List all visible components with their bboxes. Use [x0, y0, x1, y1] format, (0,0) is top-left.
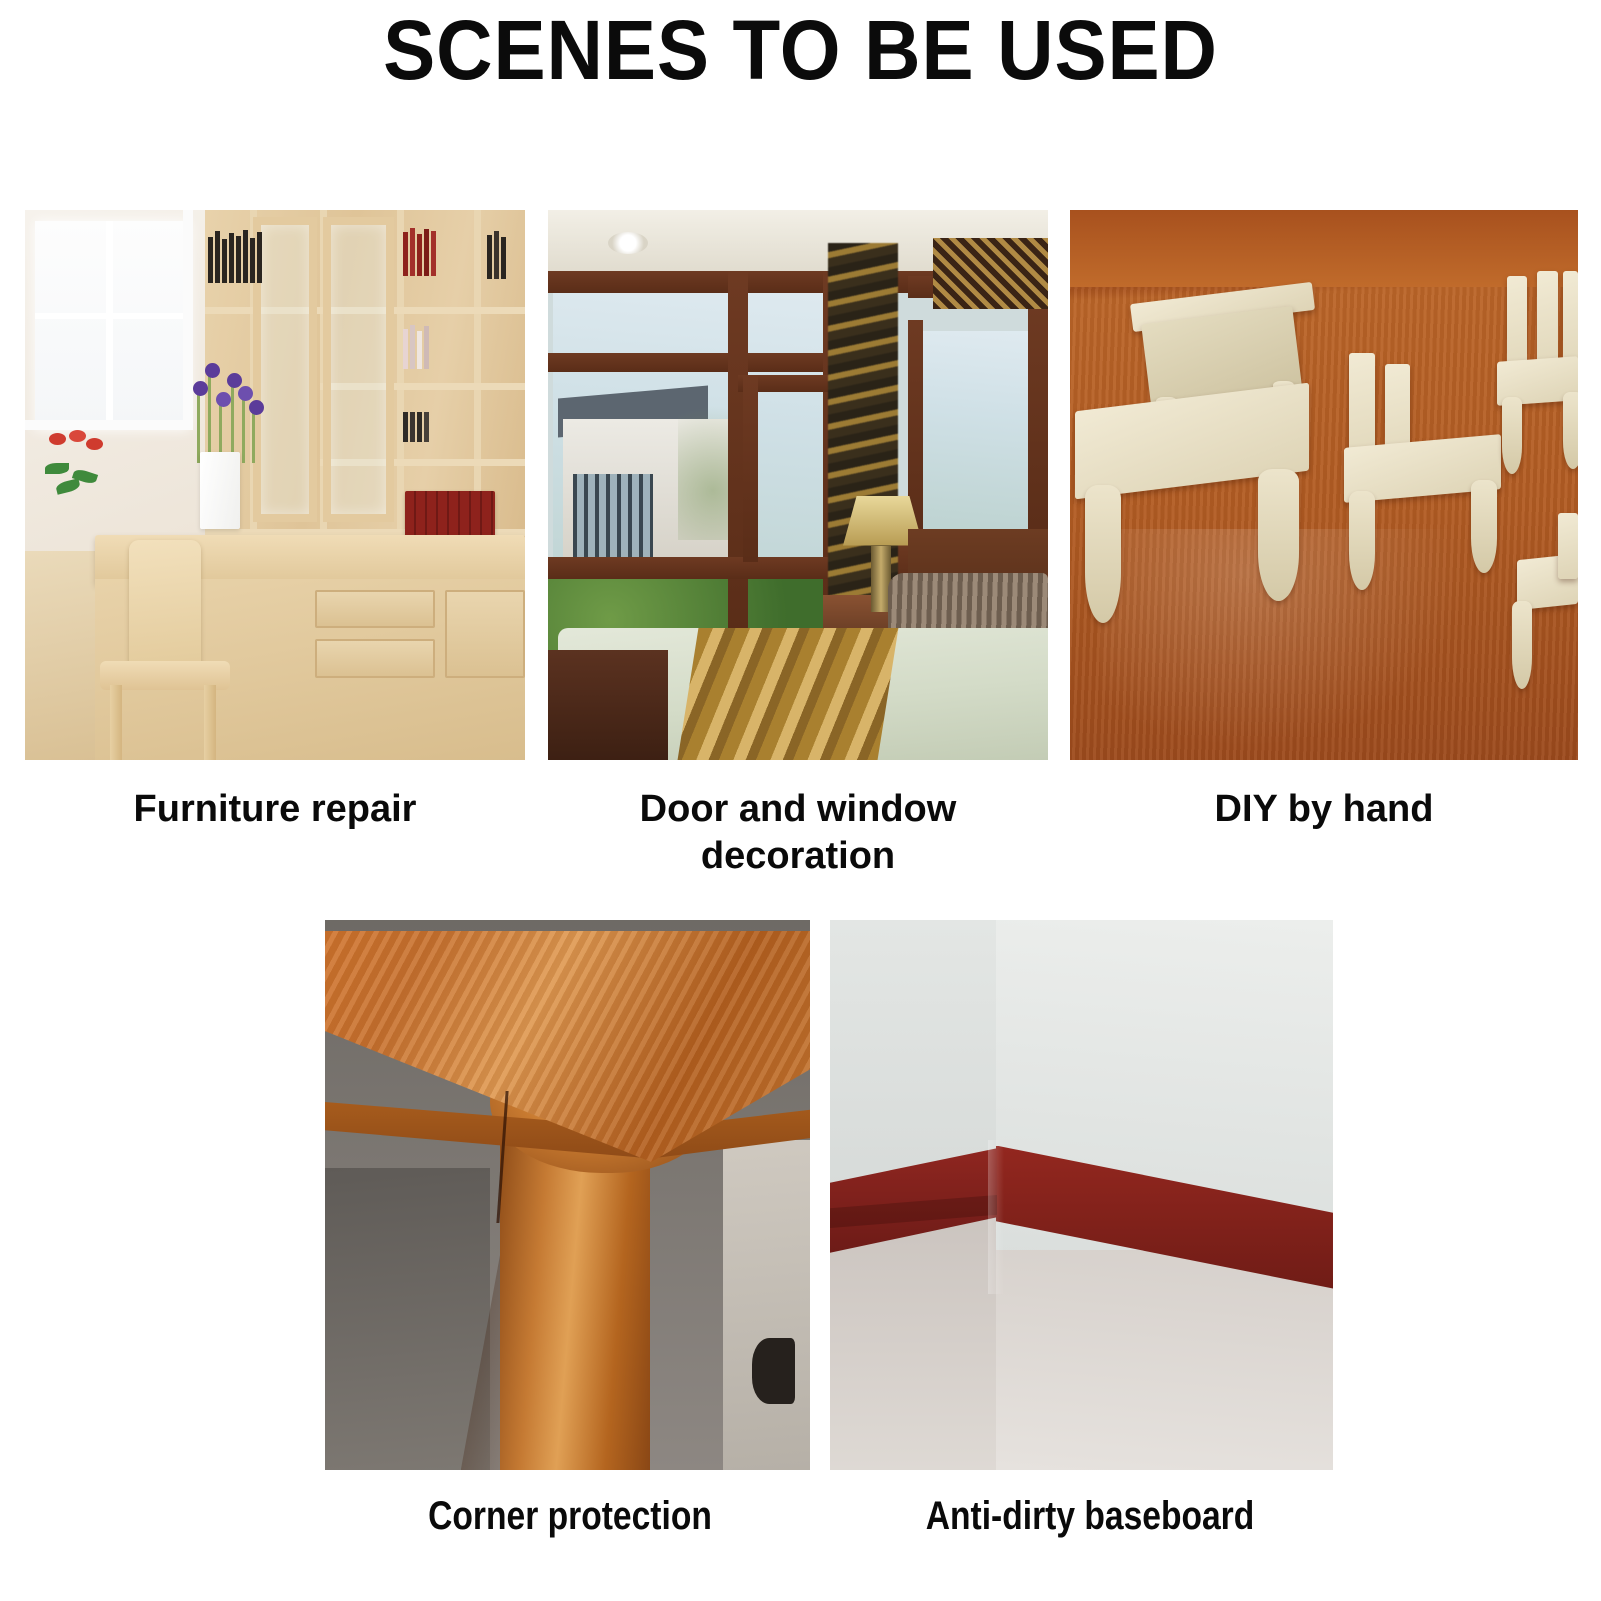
caption-corner-protection: Corner protection — [343, 1492, 797, 1542]
decor-flowers — [190, 359, 260, 464]
caption-line-2: decoration — [548, 833, 1048, 880]
caption-diy-by-hand: DIY by hand — [1070, 786, 1578, 833]
scene-image-anti-dirty-baseboard — [830, 920, 1333, 1470]
scene-image-diy-by-hand — [1070, 210, 1578, 760]
scene-row-bottom — [0, 920, 1601, 1470]
page-title: SCENES TO BE USED — [56, 6, 1545, 94]
infographic-sheet: SCENES TO BE USED — [0, 0, 1601, 1601]
scene-row-top — [0, 210, 1601, 770]
caption-anti-dirty-baseboard: Anti-dirty baseboard — [863, 1492, 1317, 1542]
scene-image-furniture-repair — [25, 210, 525, 760]
scene-image-door-and-window-decoration — [548, 210, 1048, 760]
caption-line-1: Door and window — [548, 786, 1048, 833]
caption-furniture-repair: Furniture repair — [25, 786, 525, 833]
scene-image-corner-protection — [325, 920, 810, 1470]
caption-door-and-window-decoration: Door and window decoration — [548, 786, 1048, 880]
